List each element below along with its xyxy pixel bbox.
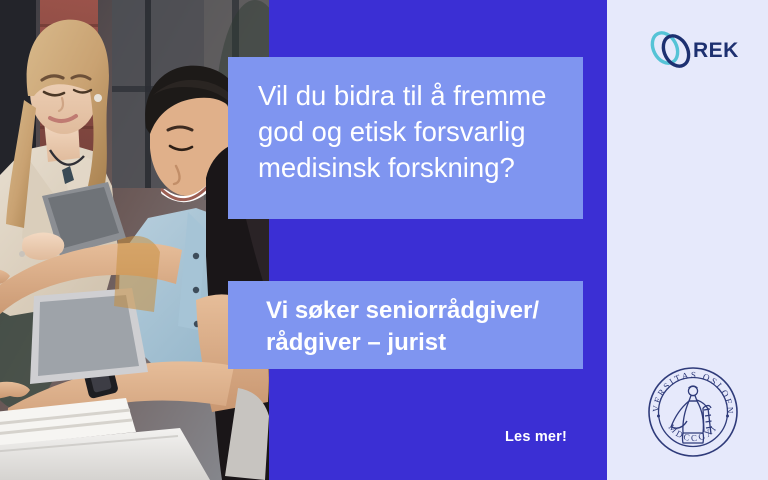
headline-textbox: Vil du bidra til å fremme god og etisk f…: [228, 57, 583, 219]
job-title-line-1: Vi søker seniorrådgiver/: [266, 295, 561, 327]
rek-logo: REK: [648, 26, 738, 72]
uio-seal: UNIVERSITAS OSLOENSIS MDCCCXI: [645, 364, 741, 460]
headline-line-2: god og etisk forsvarlig: [258, 114, 557, 150]
read-more-link[interactable]: Les mer!: [505, 429, 567, 445]
headline-line-1: Vil du bidra til å fremme: [258, 78, 557, 114]
uio-seal-top-text: UNIVERSITAS OSLOENSIS: [645, 364, 735, 415]
rek-wordmark: REK: [693, 39, 738, 62]
job-title-textbox: Vi søker seniorrådgiver/ rådgiver – juri…: [228, 281, 583, 369]
recruitment-banner: Vil du bidra til å fremme god og etisk f…: [0, 0, 768, 480]
headline-line-3: medisinsk forskning?: [258, 150, 557, 186]
job-title-line-2: rådgiver – jurist: [266, 327, 561, 359]
